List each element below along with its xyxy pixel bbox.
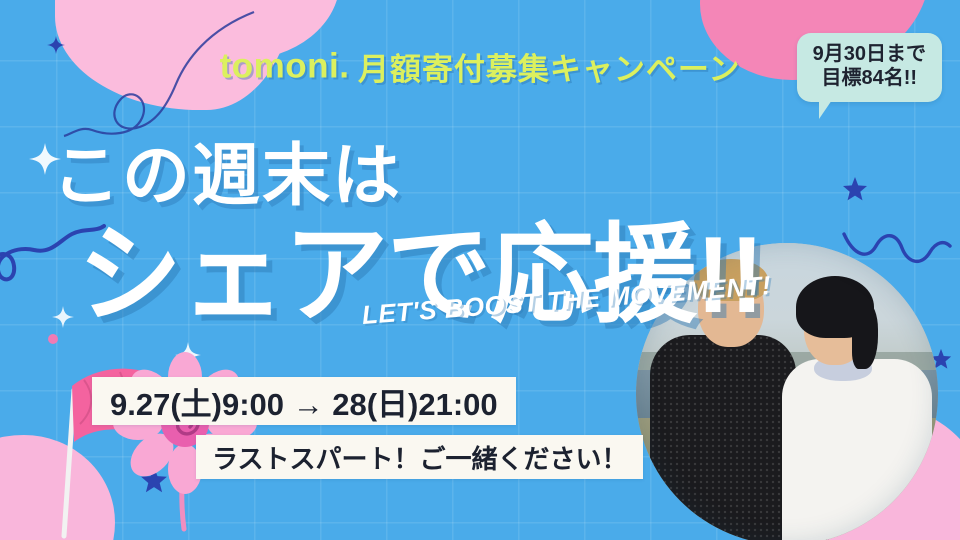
date-range-text: 9.27(土)9:00 → 28(日)21:00: [110, 379, 498, 424]
pink-dot-decoration: [48, 334, 58, 344]
brand-name: tomoni.: [220, 47, 350, 86]
cta-text: ラストスパート！ご一緒ください！: [212, 439, 627, 476]
star-icon: [842, 176, 868, 202]
sparkle-icon: [52, 306, 74, 328]
goal-speech-bubble: 9月30日まで 目標84名!!: [797, 33, 942, 102]
campaign-poster: tomoni. 月額寄付募集キャンペーン 9月30日まで 目標84名!! この週…: [0, 0, 960, 540]
pink-blob-bottom-left: [0, 435, 115, 540]
bubble-deadline-text: 9月30日まで: [813, 42, 926, 66]
star-icon: [140, 466, 168, 494]
bubble-goal-text: 目標84名!!: [813, 66, 926, 90]
campaign-name: 月額寄付募集キャンペーン: [358, 52, 740, 87]
pink-blob-top-right-2: [690, 0, 840, 30]
date-range-band: 9.27(土)9:00 → 28(日)21:00: [92, 377, 516, 425]
pink-blob-top-left-dot: [248, 0, 333, 30]
sparkle-icon: [175, 342, 201, 368]
cta-band: ラストスパート！ご一緒ください！: [196, 435, 643, 479]
